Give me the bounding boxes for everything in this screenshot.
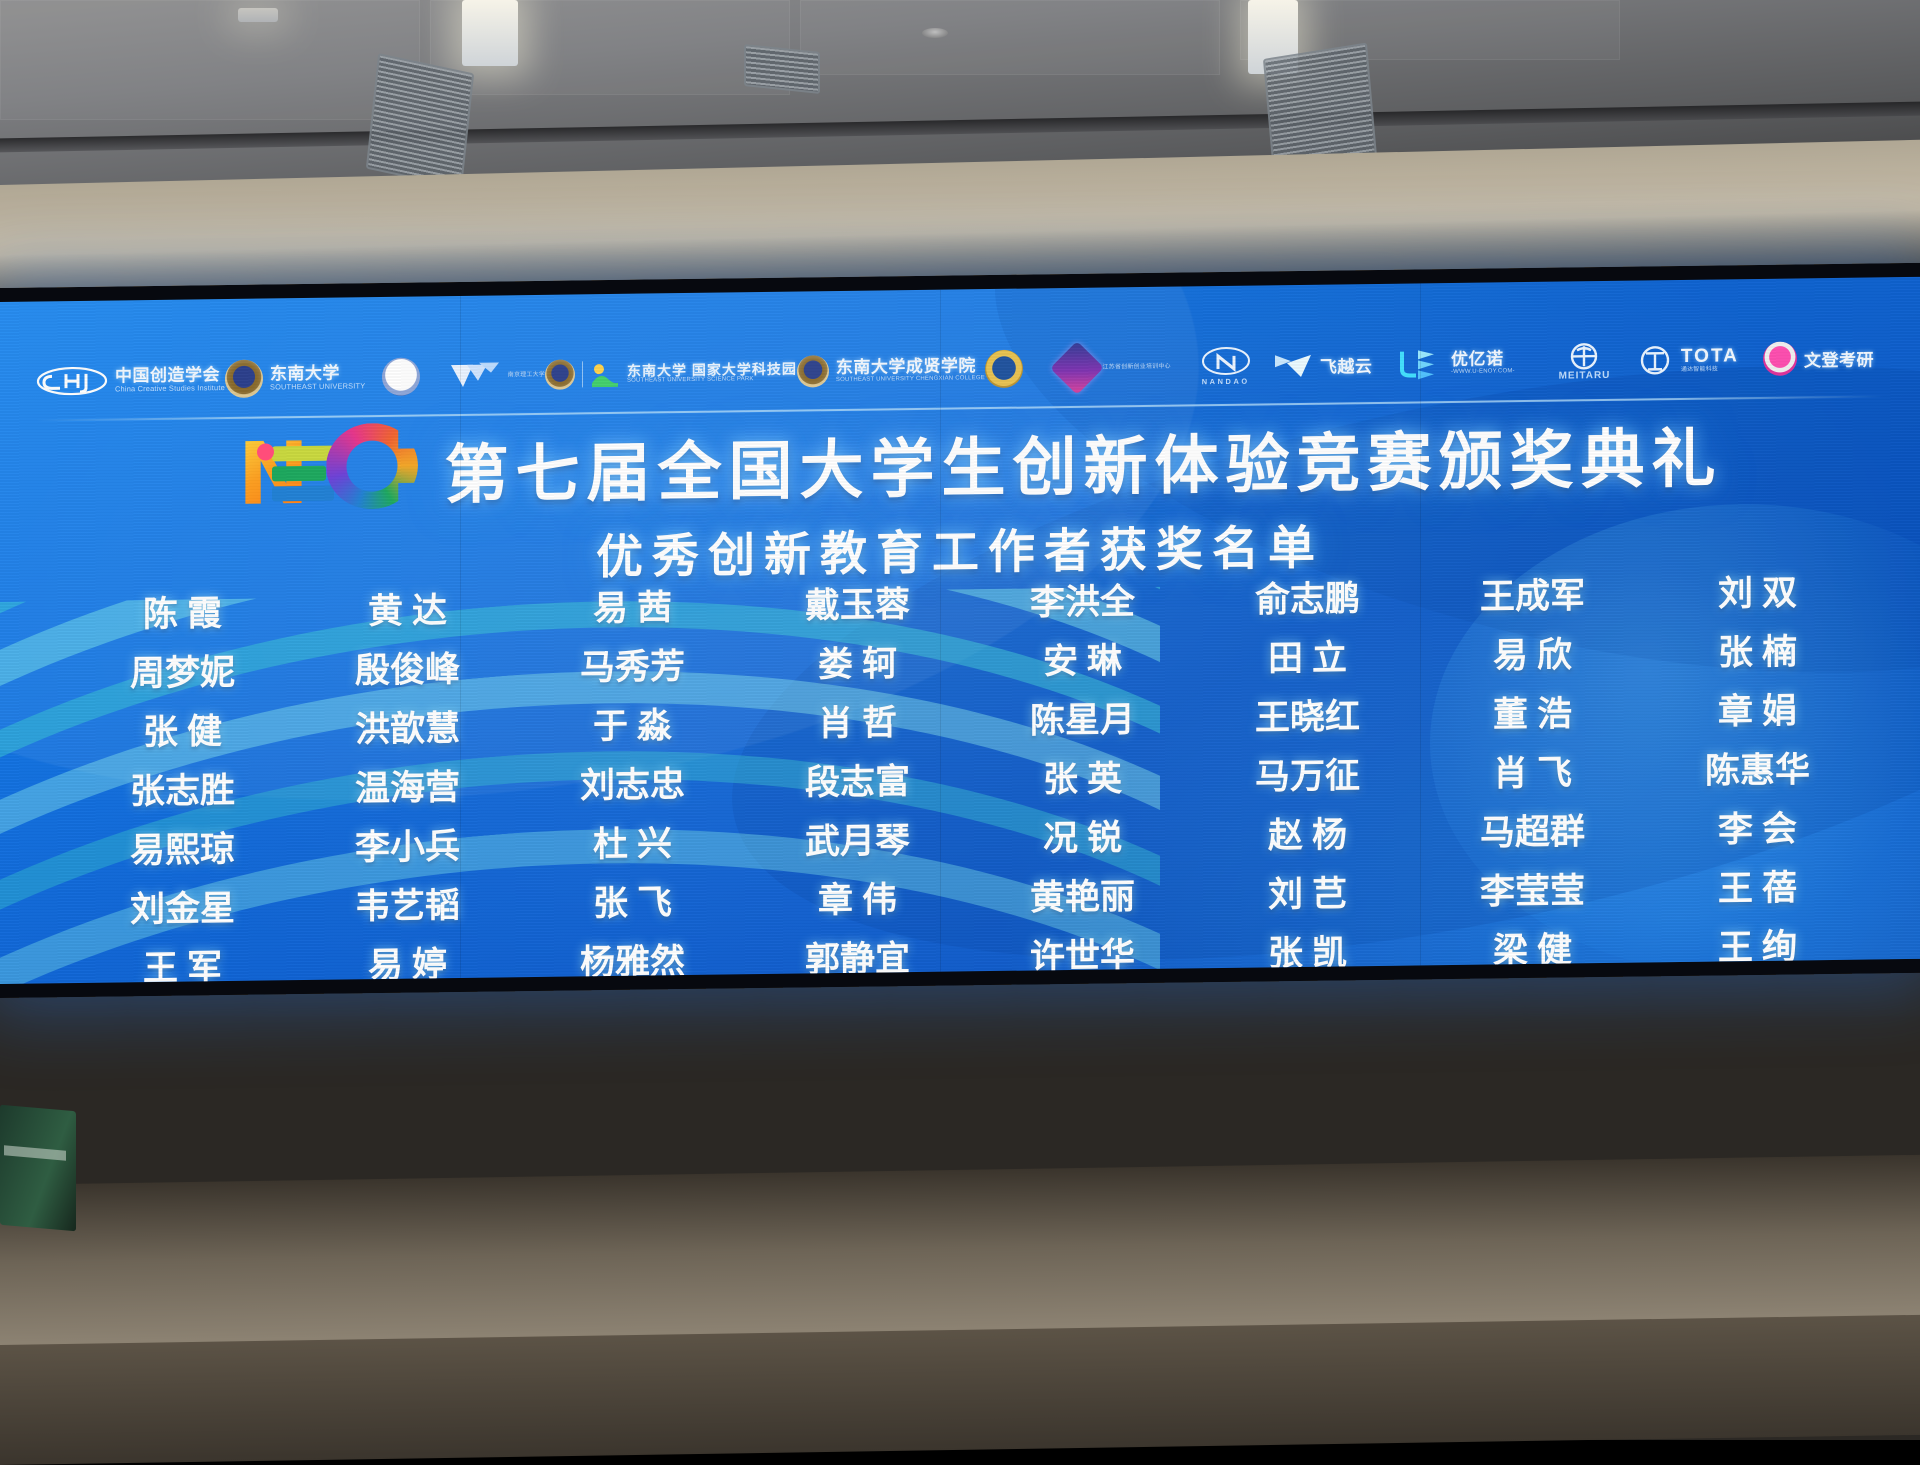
feiyueyun-mark-icon	[1273, 349, 1313, 382]
awardee-name: 李洪全	[970, 578, 1195, 628]
science-park-glyph-icon	[590, 361, 620, 387]
awardee-name: 刘志忠	[520, 761, 745, 811]
led-screen-content: 中国创造学会 China Creative Studies Institute …	[0, 277, 1920, 984]
awardee-name: 刘芑	[1195, 870, 1420, 920]
diamond-mark-icon	[1050, 341, 1104, 395]
awardee-name: 周梦妮	[70, 649, 295, 699]
awardee-name: 娄轲	[745, 640, 970, 690]
sponsor-logo-wendeng: 文登考研	[1763, 340, 1884, 376]
podium	[0, 1105, 76, 1232]
awardee-name: 赵杨	[1195, 811, 1420, 861]
sponsor-logo-vwing: 南京理工大学	[449, 358, 545, 393]
awardee-name: 田立	[1195, 634, 1420, 684]
awardee-name: 戴玉蓉	[745, 581, 970, 631]
awardee-name: 李小兵	[295, 823, 520, 873]
awardee-name: 韦艺韬	[295, 882, 520, 932]
meitaru-mark-icon	[1561, 341, 1607, 370]
awardee-name: 王军	[70, 944, 295, 984]
sponsor-logo-blue-swirl	[985, 349, 1058, 388]
led-video-wall: 中国创造学会 China Creative Studies Institute …	[0, 263, 1920, 998]
ceiling-light	[238, 8, 278, 22]
ceiling-panel	[0, 0, 420, 120]
awardee-name: 安琳	[970, 637, 1195, 687]
awardee-name: 俞志鹏	[1195, 575, 1420, 625]
ceiling-light	[462, 0, 518, 66]
awardee-name: 张飞	[520, 879, 745, 929]
panel-seam	[460, 296, 461, 978]
awardee-name: 张楠	[1645, 629, 1870, 679]
sponsor-name-en: -WWW.U-ENOY.COM-	[1451, 368, 1515, 375]
sponsor-logo-meitaru: MEITARU	[1533, 341, 1636, 381]
air-vent	[366, 53, 474, 189]
tota-mark-icon	[1636, 345, 1674, 375]
sponsor-name-en: NANDAO	[1202, 377, 1250, 387]
sponsor-name-cn: 优亿诺	[1451, 350, 1515, 369]
v-wing-mark-icon	[449, 358, 501, 393]
nec-letter-c	[326, 423, 418, 510]
awardee-name: 李莹莹	[1420, 867, 1645, 917]
sponsor-name-cn: 东南大学成贤学院	[836, 357, 985, 377]
sponsor-name-cn: TOTA	[1681, 346, 1739, 367]
sponsor-logo-seu: 东南大学 SOUTHEAST UNIVERSITY	[225, 358, 382, 398]
sponsor-name-en: MEITARU	[1559, 369, 1611, 381]
sprinkler-head	[922, 28, 948, 38]
seu-cx-seal-icon	[797, 355, 829, 387]
awardee-name: 章伟	[745, 876, 970, 926]
awardee-name: 董浩	[1420, 690, 1645, 740]
sponsor-name-en: 南京理工大学	[508, 372, 545, 379]
sponsor-logo-ccsi: 中国创造学会 China Creative Studies Institute	[36, 362, 225, 398]
awardee-name: 王晓红	[1195, 693, 1420, 743]
awardee-name: 刘双	[1645, 570, 1870, 620]
awardee-name: 马秀芳	[520, 643, 745, 693]
sponsor-logo-tota: TOTA 通达智能科技	[1636, 344, 1763, 376]
awardee-name: 张英	[970, 755, 1195, 805]
awardee-name: 陈惠华	[1645, 747, 1870, 797]
sponsor-name-cn: 飞越云	[1320, 352, 1373, 378]
sponsor-logo-feiyueyun: 飞越云	[1273, 348, 1400, 382]
seu-seal-icon	[225, 360, 263, 398]
uenoy-mark-icon	[1400, 347, 1444, 380]
awardee-name: 刘金星	[70, 885, 295, 935]
awardee-name: 易欣	[1420, 631, 1645, 681]
awardee-name: 洪歆慧	[295, 705, 520, 755]
awardee-name: 陈霞	[70, 590, 295, 640]
panel-seam	[1420, 283, 1421, 965]
awardee-name: 肖哲	[745, 699, 970, 749]
awardee-name: 黄达	[295, 587, 520, 637]
ceiling-panel	[800, 0, 1220, 75]
awardee-name: 况锐	[970, 814, 1195, 864]
panel-seam	[940, 290, 941, 972]
awardee-name: 温海营	[295, 764, 520, 814]
awardee-name: 段志富	[745, 758, 970, 808]
nandao-mark-icon	[1201, 346, 1251, 377]
wendeng-mark-icon	[1763, 341, 1797, 375]
page-title: 第七届全国大学生创新体验竞赛颁奖典礼	[444, 407, 1722, 516]
awardee-name: 甄海凤	[1645, 983, 1870, 984]
awardee-name: 李会	[1645, 806, 1870, 856]
awardee-name: 张健	[70, 708, 295, 758]
sponsor-name-en: SOUTHEAST UNIVERSITY	[270, 382, 365, 391]
ccsi-wordmark-icon	[36, 364, 108, 399]
sponsor-logo-nandao: NANDAO	[1179, 345, 1273, 386]
awardee-name: 马万征	[1195, 752, 1420, 802]
awardee-name: 易茜	[520, 584, 745, 634]
nec-letter-e	[272, 440, 334, 507]
awardee-name: 肖飞	[1420, 749, 1645, 799]
awardee-name: 易婷	[295, 941, 520, 984]
awardee-name: 殷俊峰	[295, 646, 520, 696]
awardee-name: 于淼	[520, 702, 745, 752]
awardee-name: 王蓓	[1645, 865, 1870, 915]
sponsor-name-en: 江苏省创新创业培训中心	[1103, 364, 1171, 371]
sponsor-name-cn: 文登考研	[1804, 345, 1874, 371]
nec-brand-logo: N	[238, 433, 419, 511]
air-vent	[744, 44, 820, 94]
blue-swirl-seal-icon	[985, 350, 1023, 388]
awardee-name: 章娟	[1645, 688, 1870, 738]
sponsor-logo-seu-chengxian: 东南大学成贤学院 SOUTHEAST UNIVERSITY CHENGXIAN …	[797, 353, 985, 387]
awardee-name: 武月琴	[745, 817, 970, 867]
sponsor-logo-seu-science-park: 东南大学 国家大学科技园 SOUTHEAST UNIVERSITY SCIENC…	[545, 357, 797, 390]
awardee-name: 杜兴	[520, 820, 745, 870]
awardee-name-grid: 陈霞黄达易茜戴玉蓉李洪全俞志鹏王成军刘双周梦妮殷俊峰马秀芳娄轲安琳田立易欣张楠张…	[70, 570, 1870, 984]
sponsor-name-en: 通达智能科技	[1681, 366, 1739, 373]
sponsor-name-en: SOUTHEAST UNIVERSITY SCIENCE PARK	[627, 376, 797, 385]
awardee-name: 马超群	[1420, 808, 1645, 858]
awardee-name: 陈星月	[970, 696, 1195, 746]
sponsor-name-en: SOUTHEAST UNIVERSITY CHENGXIAN COLLEGE	[836, 375, 985, 383]
awardee-name: 王成军	[1420, 572, 1645, 622]
awardee-name: 黄艳丽	[970, 873, 1195, 923]
awardee-name: 张志胜	[70, 767, 295, 817]
awardee-name: 易熙琼	[70, 826, 295, 876]
sponsor-name-en: China Creative Studies Institute	[115, 384, 225, 393]
seu-science-park-seal-icon	[545, 359, 575, 389]
university-seal-icon	[382, 357, 420, 395]
sponsor-logo-diamond: 江苏省创新创业培训中心	[1058, 348, 1179, 388]
sponsor-logo-university-seal	[382, 357, 449, 396]
room-scene: 中国创造学会 China Creative Studies Institute …	[0, 0, 1920, 1440]
